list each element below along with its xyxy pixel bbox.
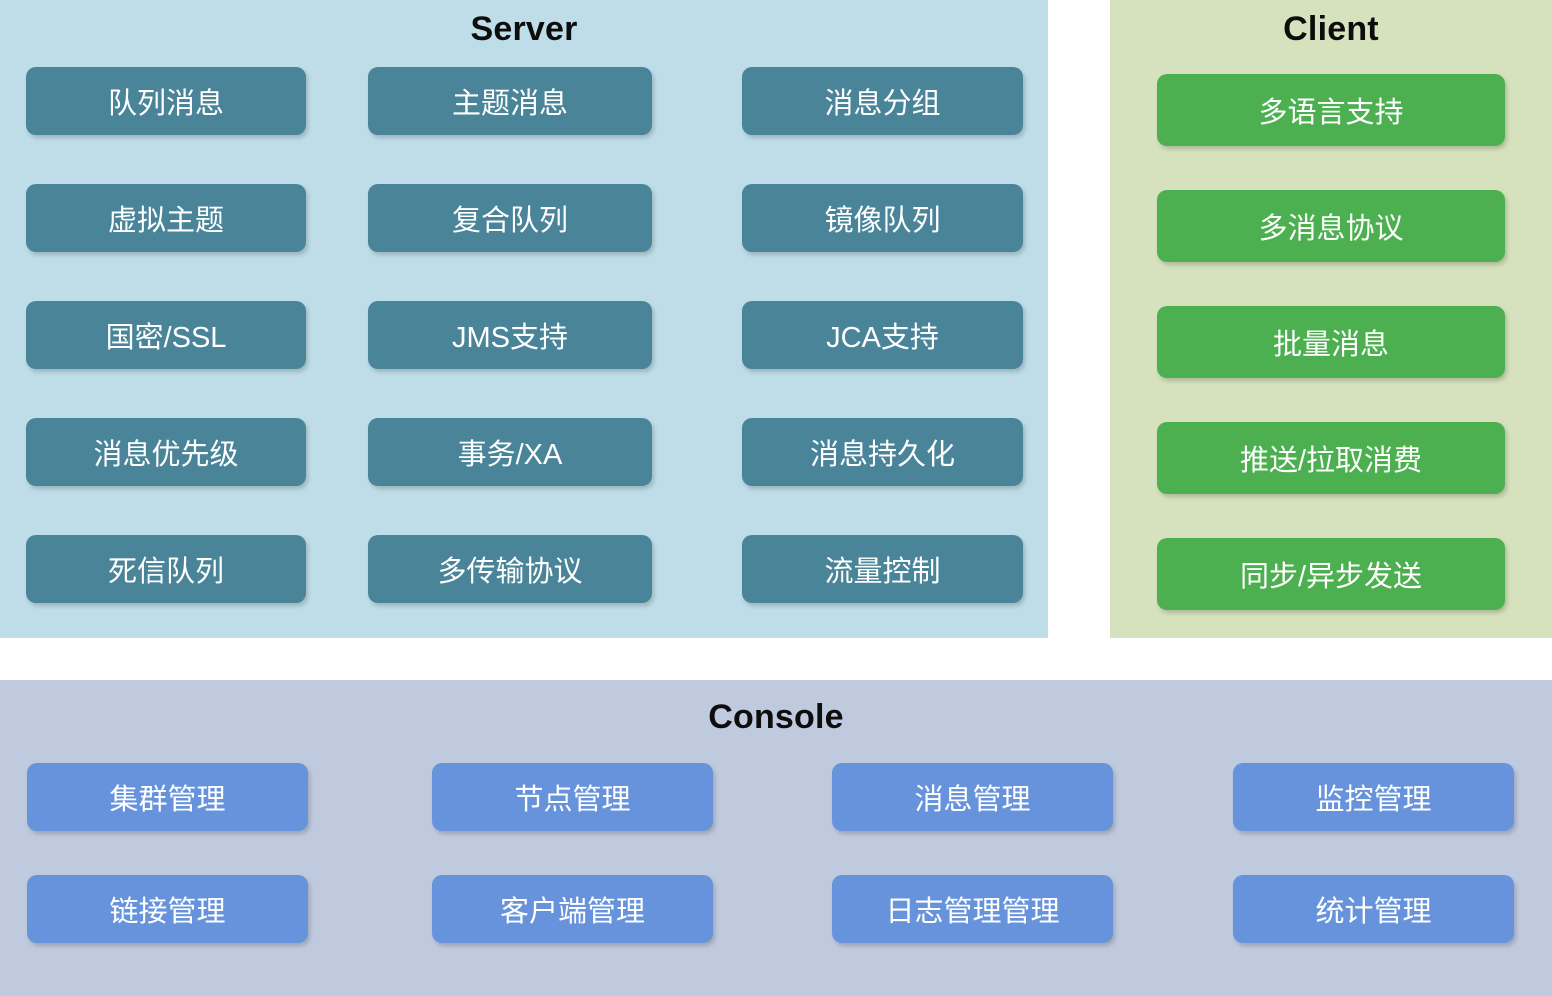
server-feature-box[interactable]: 虚拟主题 [26,184,306,252]
client-feature-box[interactable]: 同步/异步发送 [1157,538,1505,610]
server-row: 死信队列 多传输协议 流量控制 [26,535,1022,603]
console-row: 链接管理 客户端管理 日志管理管理 统计管理 [27,875,1525,943]
server-feature-box[interactable]: 事务/XA [368,418,652,486]
client-feature-box[interactable]: 多消息协议 [1157,190,1505,262]
client-feature-box[interactable]: 推送/拉取消费 [1157,422,1505,494]
console-feature-box[interactable]: 客户端管理 [432,875,713,943]
client-feature-box[interactable]: 多语言支持 [1157,74,1505,146]
server-feature-grid: 队列消息 主题消息 消息分组 虚拟主题 复合队列 镜像队列 国密/SSL JMS… [26,67,1022,603]
console-feature-box[interactable]: 统计管理 [1233,875,1514,943]
server-row: 虚拟主题 复合队列 镜像队列 [26,184,1022,252]
console-row: 集群管理 节点管理 消息管理 监控管理 [27,763,1525,831]
console-panel: Console 集群管理 节点管理 消息管理 监控管理 链接管理 客户端管理 日… [0,680,1552,996]
server-feature-box[interactable]: 主题消息 [368,67,652,135]
server-feature-box[interactable]: 消息持久化 [742,418,1023,486]
console-feature-box[interactable]: 日志管理管理 [832,875,1113,943]
server-feature-box[interactable]: 队列消息 [26,67,306,135]
server-feature-box[interactable]: 多传输协议 [368,535,652,603]
server-row: 国密/SSL JMS支持 JCA支持 [26,301,1022,369]
client-feature-box[interactable]: 批量消息 [1157,306,1505,378]
client-panel-title: Client [1110,0,1552,46]
server-row: 队列消息 主题消息 消息分组 [26,67,1022,135]
console-feature-grid: 集群管理 节点管理 消息管理 监控管理 链接管理 客户端管理 日志管理管理 统计… [27,763,1525,943]
server-feature-box[interactable]: 消息优先级 [26,418,306,486]
server-feature-box[interactable]: 死信队列 [26,535,306,603]
server-feature-box[interactable]: 镜像队列 [742,184,1023,252]
server-feature-box[interactable]: JMS支持 [368,301,652,369]
server-feature-box[interactable]: 国密/SSL [26,301,306,369]
console-feature-box[interactable]: 集群管理 [27,763,308,831]
console-feature-box[interactable]: 节点管理 [432,763,713,831]
server-feature-box[interactable]: JCA支持 [742,301,1023,369]
server-row: 消息优先级 事务/XA 消息持久化 [26,418,1022,486]
client-feature-grid: 多语言支持 多消息协议 批量消息 推送/拉取消费 同步/异步发送 [1157,74,1505,610]
server-panel: Server 队列消息 主题消息 消息分组 虚拟主题 复合队列 镜像队列 国密/… [0,0,1048,638]
console-feature-box[interactable]: 消息管理 [832,763,1113,831]
console-feature-box[interactable]: 监控管理 [1233,763,1514,831]
console-feature-box[interactable]: 链接管理 [27,875,308,943]
client-panel: Client 多语言支持 多消息协议 批量消息 推送/拉取消费 同步/异步发送 [1110,0,1552,638]
console-panel-title: Console [0,680,1552,734]
server-panel-title: Server [0,0,1048,46]
server-feature-box[interactable]: 消息分组 [742,67,1023,135]
top-row-container: Server 队列消息 主题消息 消息分组 虚拟主题 复合队列 镜像队列 国密/… [0,0,1552,640]
server-feature-box[interactable]: 复合队列 [368,184,652,252]
server-feature-box[interactable]: 流量控制 [742,535,1023,603]
